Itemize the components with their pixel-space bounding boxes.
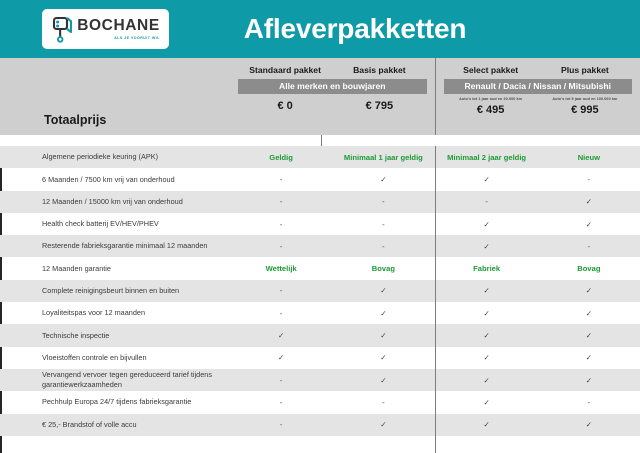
price-plus: € 995 [538,104,632,116]
feature-value-cell: - [538,398,640,407]
feature-value-cell: ✓ [436,309,538,318]
page-title: Afleverpakketten [0,13,640,45]
feature-label: € 25,- Brandstof of volle accu [2,420,230,430]
feature-label: Loyaliteitspas voor 12 maanden [2,308,230,318]
header-spacer [0,135,640,146]
feature-value-cell: - [538,175,640,184]
total-price-label: Totaalprijs [44,113,106,127]
feature-value-cell: - [230,242,332,251]
feature-value-cell: ✓ [332,376,434,385]
feature-value-cell: Minimaal 2 jaar geldig [436,153,538,162]
package-note-select: Auto's tot 1 jaar oud en 20.000 km [444,97,538,101]
sheet-footer [0,436,640,453]
feature-label: 12 Maanden / 15000 km vrij van onderhoud [2,197,230,207]
feature-label: Health check batterij EV/HEV/PHEV [2,219,230,229]
package-price-row-2: € 495 € 995 [444,104,633,116]
feature-value-cell: ✓ [538,353,640,362]
feature-label: 6 Maanden / 7500 km vrij van onderhoud [2,175,230,185]
table-row: Resterende fabrieksgarantie minimaal 12 … [0,235,640,257]
feature-value-cell: Fabriek [436,264,538,273]
table-row: Technische inspectie✓✓✓✓ [0,324,640,346]
package-name-basis[interactable]: Basis pakket [332,65,426,75]
feature-value-cell: - [332,398,434,407]
table-row: Loyaliteitspas voor 12 maanden-✓✓✓ [0,302,640,324]
table-row: Vervangend vervoer tegen gereduceerd tar… [0,369,640,391]
table-row: € 25,- Brandstof of volle accu-✓✓✓ [0,414,640,436]
feature-value-cell: ✓ [538,420,640,429]
feature-value-cell: ✓ [436,286,538,295]
table-row: 12 Maanden garantieWettelijkBovagFabriek… [0,257,640,279]
feature-value-cell: ✓ [230,353,332,362]
feature-value-cell: ✓ [538,376,640,385]
feature-value-cell: ✓ [538,331,640,340]
table-row: 6 Maanden / 7500 km vrij van onderhoud-✓… [0,168,640,190]
feature-label: Pechhulp Europa 24/7 tijdens fabrieksgar… [2,397,230,407]
package-name-plus[interactable]: Plus pakket [538,65,632,75]
feature-value-cell: - [230,175,332,184]
header-label-column: Totaalprijs [0,58,230,135]
feature-value-cell: - [230,398,332,407]
brand-scope-bar-renault: Renault / Dacia / Nissan / Mitsubishi [444,79,633,94]
feature-value-cell: - [332,242,434,251]
feature-value-cell: - [332,220,434,229]
feature-value-cell: Geldig [230,153,332,162]
package-name-standaard[interactable]: Standaard pakket [238,65,332,75]
package-note-plus: Auto's tot 5 jaar oud en 100.000 km [538,97,632,101]
package-note-row-2: Auto's tot 1 jaar oud en 20.000 km Auto'… [444,97,633,101]
feature-value-cell: ✓ [538,197,640,206]
feature-value-cell: ✓ [436,331,538,340]
feature-label: Vloeistoffen controle en bijvullen [2,353,230,363]
feature-label: 12 Maanden garantie [2,264,230,274]
footer-right-group [436,436,640,453]
feature-value-cell: Bovag [332,264,434,273]
feature-value-cell: ✓ [332,286,434,295]
feature-label: Technische inspectie [2,331,230,341]
feature-value-cell: - [230,197,332,206]
feature-value-cell: - [230,286,332,295]
feature-label: Complete reinigingsbeurt binnen en buite… [2,286,230,296]
package-header-block: Totaalprijs Standaard pakket Basis pakke… [0,58,640,135]
table-row: Complete reinigingsbeurt binnen en buite… [0,280,640,302]
feature-comparison-table: Algemene periodieke keuring (APK)GeldigM… [0,146,640,436]
feature-value-cell: ✓ [332,175,434,184]
feature-value-cell: - [332,197,434,206]
feature-value-cell: ✓ [436,398,538,407]
table-row: Vloeistoffen controle en bijvullen✓✓✓✓ [0,347,640,369]
feature-value-cell: ✓ [436,220,538,229]
feature-value-cell: - [230,376,332,385]
table-row: Pechhulp Europa 24/7 tijdens fabrieksgar… [0,391,640,413]
package-name-row-1: Standaard pakket Basis pakket [238,65,427,75]
feature-label: Resterende fabrieksgarantie minimaal 12 … [2,241,230,251]
table-row: 12 Maanden / 15000 km vrij van onderhoud… [0,191,640,213]
package-group-all-brands: Standaard pakket Basis pakket Alle merke… [230,58,435,135]
feature-value-cell: ✓ [332,420,434,429]
feature-label: Algemene periodieke keuring (APK) [2,152,230,162]
feature-value-cell: ✓ [332,331,434,340]
footer-left-group [230,436,435,453]
feature-value-cell: Minimaal 1 jaar geldig [332,153,434,162]
feature-value-cell: - [538,242,640,251]
feature-value-cell: - [230,220,332,229]
feature-value-cell: - [436,197,538,206]
footer-label-area [2,436,230,453]
package-group-renault-family: Select pakket Plus pakket Renault / Daci… [436,58,640,135]
price-select: € 495 [444,104,538,116]
feature-value-cell: ✓ [538,286,640,295]
page-banner: BOCHANE ALS JE VOORUIT WIL Afleverpakket… [0,0,640,58]
feature-value-cell: ✓ [436,242,538,251]
spacer-right [322,135,640,146]
feature-label: Vervangend vervoer tegen gereduceerd tar… [2,370,230,390]
feature-value-cell: Bovag [538,264,640,273]
feature-value-cell: Nieuw [538,153,640,162]
feature-value-cell: ✓ [230,331,332,340]
package-price-row-1: € 0 € 795 [238,100,427,112]
feature-value-cell: ✓ [538,309,640,318]
price-standaard: € 0 [238,100,332,112]
table-row: Health check batterij EV/HEV/PHEV--✓✓ [0,213,640,235]
feature-value-cell: Wettelijk [230,264,332,273]
feature-value-cell: ✓ [332,353,434,362]
feature-value-cell: - [230,420,332,429]
feature-value-cell: ✓ [538,220,640,229]
spacer-left [2,135,321,146]
feature-value-cell: ✓ [436,175,538,184]
feature-value-cell: - [230,309,332,318]
feature-value-cell: ✓ [436,376,538,385]
price-basis: € 795 [332,100,426,112]
afleverpakketten-comparison-sheet: BOCHANE ALS JE VOORUIT WIL Afleverpakket… [0,0,640,453]
package-name-row-2: Select pakket Plus pakket [444,65,633,75]
feature-value-cell: ✓ [332,309,434,318]
feature-value-cell: ✓ [436,353,538,362]
table-row: Algemene periodieke keuring (APK)GeldigM… [0,146,640,168]
package-name-select[interactable]: Select pakket [444,65,538,75]
feature-value-cell: ✓ [436,420,538,429]
brand-scope-bar-all: Alle merken en bouwjaren [238,79,427,94]
